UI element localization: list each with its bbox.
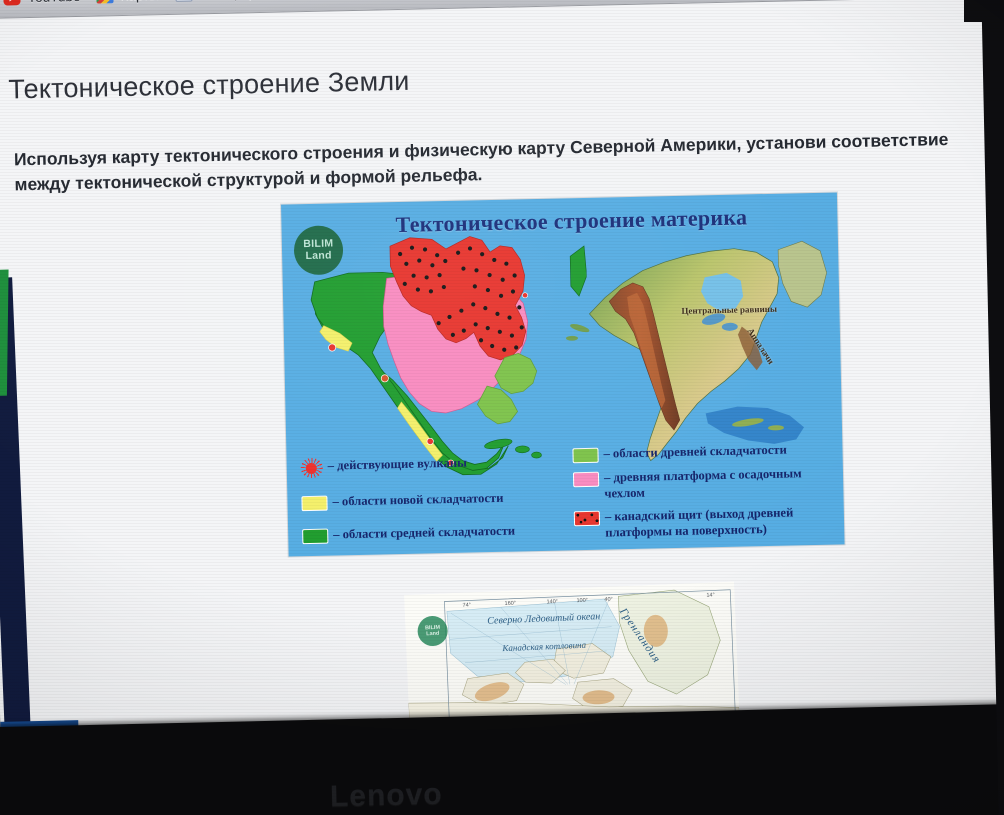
photo-of-monitor: YouTube Карты Платформа по исп... Дневни…: [0, 0, 1004, 815]
label-central-plains: Центральные равнины: [681, 304, 777, 316]
google-maps-icon: [96, 0, 113, 3]
bookmark-platform[interactable]: Платформа по исп...: [172, 0, 342, 8]
tectonic-map-graphic: [285, 216, 591, 480]
bookmark-youtube[interactable]: YouTube: [0, 0, 94, 12]
bookmark-label: Карты: [120, 0, 159, 3]
coordinate-tick: 100°: [576, 598, 588, 604]
volcano-icon: [301, 458, 323, 478]
bookmark-label: YouTube: [27, 0, 80, 5]
legend-item: – действующие вулканы: [301, 452, 569, 478]
green-swatch-icon: [302, 529, 328, 545]
legend-item: – области средней складчатости: [302, 521, 570, 544]
coordinate-tick: 140°: [546, 599, 558, 605]
page-title: Тектоническое строение Земли: [8, 66, 410, 106]
physical-relief-map-graphic: [564, 221, 837, 467]
red-dotted-swatch-icon: [574, 511, 600, 527]
legend-label: – области средней складчатости: [333, 523, 515, 544]
logo-line-2: Land: [426, 631, 439, 638]
legend-column-right: – области древней складчатости – древняя…: [572, 440, 844, 549]
screen: YouTube Карты Платформа по исп... Дневни…: [0, 0, 1004, 778]
caribbean-sea: [706, 405, 805, 445]
monitor-screen-area: YouTube Карты Платформа по исп... Дневни…: [0, 0, 1004, 778]
task-instruction-text: Используя карту тектонического строения …: [14, 127, 960, 197]
page-content: Тектоническое строение Земли Используя к…: [0, 0, 1004, 739]
legend-column-left: – действующие вулканы – области новой ск…: [301, 452, 571, 556]
aleutian-islands: [566, 322, 591, 341]
document-icon: [175, 0, 192, 1]
legend-label: – области новой складчатости: [332, 490, 503, 510]
lenovo-brand-logo: Lenovo: [330, 778, 443, 815]
greenland: [778, 241, 827, 308]
coordinate-tick: 160°: [504, 601, 516, 607]
legend-item: – области новой складчатости: [301, 488, 569, 511]
bookmark-label: Платформа по исп...: [199, 0, 328, 1]
legend-item: – древняя платформа с осадочным чехлом: [573, 464, 844, 502]
legend-label: – области древней складчатости: [603, 442, 787, 463]
coordinate-tick: 14°: [706, 592, 715, 598]
pink-swatch-icon: [573, 472, 599, 488]
map-legend: – действующие вулканы – области новой ск…: [287, 444, 845, 556]
youtube-icon: [3, 0, 20, 5]
light-green-swatch-icon: [572, 448, 598, 464]
monitor-bezel-corner: [964, 0, 1004, 22]
legend-label: – древняя платформа с осадочным чехлом: [604, 464, 844, 502]
yellow-swatch-icon: [301, 496, 327, 512]
bookmark-maps[interactable]: Карты: [93, 0, 172, 10]
bookmark-kundelik[interactable]: Дневник - Kundelik...: [341, 0, 509, 4]
legend-label: – действующие вулканы: [328, 455, 468, 475]
coordinate-tick: 74°: [463, 602, 472, 608]
tectonic-structure-image[interactable]: BILIM Land Тектоническое строение матери…: [281, 192, 845, 556]
coordinate-tick: 40°: [604, 597, 613, 603]
legend-item: – канадский щит (выход древней платформы…: [574, 504, 845, 542]
legend-label: – канадский щит (выход древней платформы…: [605, 504, 845, 542]
